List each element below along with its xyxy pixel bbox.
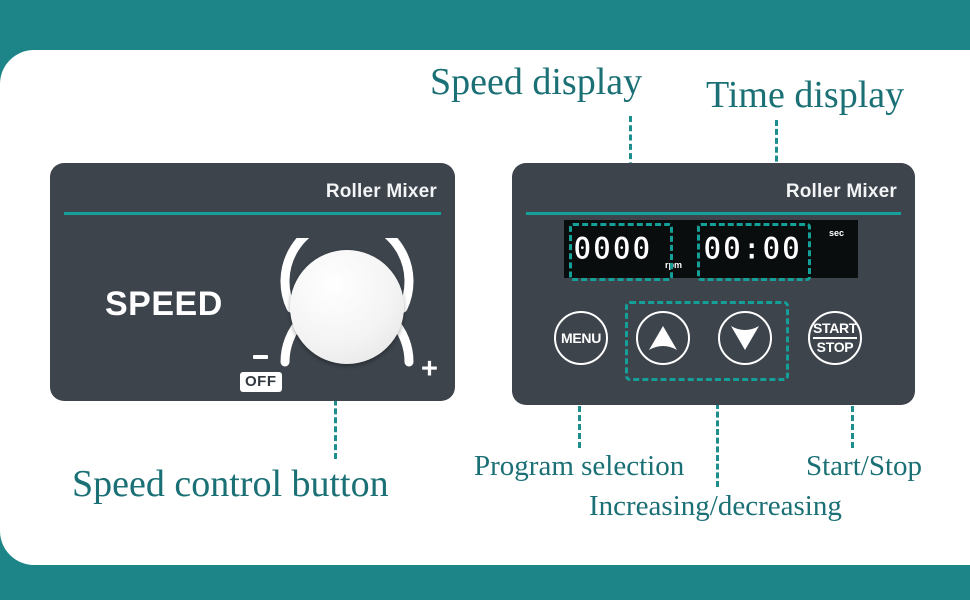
caption-time-display: Time display <box>706 76 904 114</box>
arrow-up-icon <box>648 324 678 352</box>
decrease-button[interactable] <box>718 311 772 365</box>
panel-brand-left: Roller Mixer <box>326 181 437 203</box>
speed-text-label: SPEED <box>105 285 223 324</box>
panel-divider-left <box>64 212 441 215</box>
caption-speed-control-button: Speed control button <box>72 465 389 503</box>
caption-increasing-decreasing: Increasing/decreasing <box>589 492 842 521</box>
control-keypad-panel: Roller Mixer 0000 rpm 00:00 sec MENU <box>512 163 915 405</box>
arrow-down-icon <box>730 324 760 352</box>
start-label: START <box>813 321 857 339</box>
menu-button[interactable]: MENU <box>554 311 608 365</box>
menu-button-label: MENU <box>561 330 601 346</box>
highlight-box-time-display <box>697 223 811 281</box>
off-badge: OFF <box>240 372 282 392</box>
start-stop-button[interactable]: START STOP <box>808 311 862 365</box>
start-stop-label-stack: START STOP <box>813 321 857 354</box>
caption-program-selection: Program selection <box>474 452 684 481</box>
plus-marker: + <box>421 355 438 384</box>
stop-label: STOP <box>817 339 854 355</box>
caption-start-stop: Start/Stop <box>806 452 922 481</box>
poster-canvas: Speed display Time display Speed control… <box>0 0 970 600</box>
knob-cap[interactable] <box>290 250 404 364</box>
caption-speed-display: Speed display <box>430 63 642 101</box>
speed-control-panel: Roller Mixer SPEED + OFF <box>50 163 455 401</box>
minus-marker <box>253 355 268 359</box>
panel-brand-right: Roller Mixer <box>786 181 897 203</box>
speed-knob[interactable] <box>263 238 431 388</box>
time-unit-label: sec <box>829 228 844 238</box>
increase-button[interactable] <box>636 311 690 365</box>
highlight-box-speed-display <box>569 223 673 281</box>
panel-divider-right <box>526 212 901 215</box>
